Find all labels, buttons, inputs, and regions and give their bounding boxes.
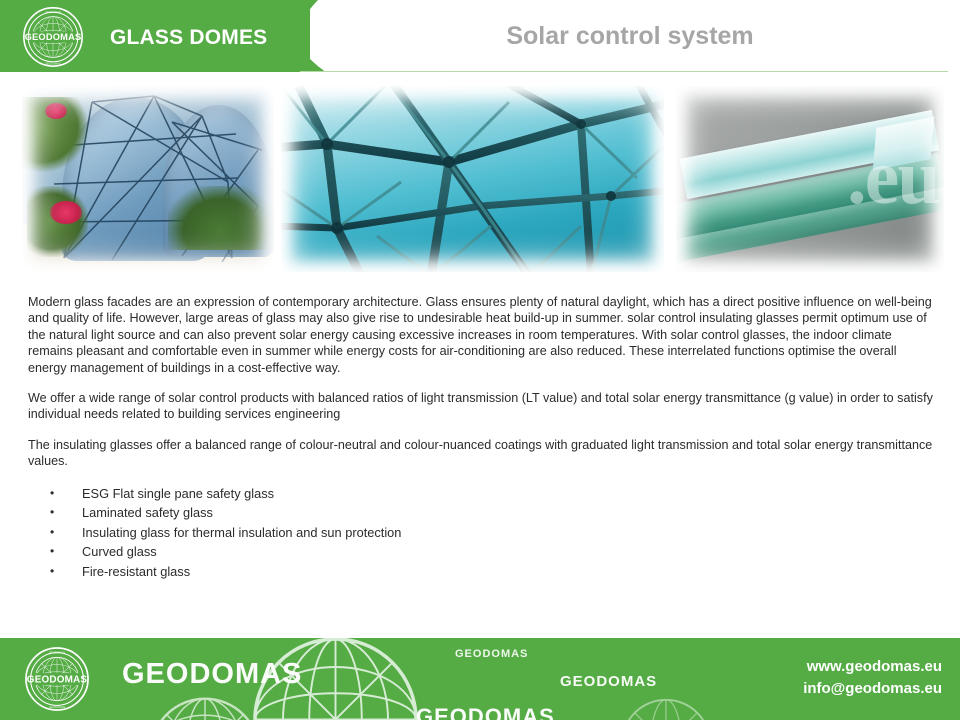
svg-text:GEODOMAS: GEODOMAS <box>25 32 82 42</box>
footer-wordmark: GEODOMAS <box>122 658 302 691</box>
dome-wireframe-icon <box>618 696 714 720</box>
photo-glass-dome-interior-upward <box>281 86 664 272</box>
page-title: Solar control system <box>330 22 930 51</box>
slide-footer: GEODOMAS GEODOMAS GEODOMAS GEODOMAS GEOD… <box>0 638 960 720</box>
paragraph-coatings: The insulating glasses offer a balanced … <box>28 437 934 470</box>
list-item: Laminated safety glass <box>28 503 934 523</box>
geodomas-logo-icon: GEODOMAS GEODOMAS GEODOMAS <box>16 646 98 712</box>
footer-wordmark: GEODOMAS <box>560 673 657 690</box>
list-item: Curved glass <box>28 542 934 562</box>
product-list: ESG Flat single pane safety glass Lamina… <box>28 484 934 582</box>
geodomas-logo-icon: GEODOMAS GEODOMAS GEODOMAS <box>14 6 92 68</box>
svg-text:GEODOMAS: GEODOMAS <box>45 61 61 65</box>
svg-text:GEODOMAS: GEODOMAS <box>27 674 88 685</box>
svg-text:GEODOMAS: GEODOMAS <box>45 10 61 14</box>
list-item: Insulating glass for thermal insulation … <box>28 523 934 543</box>
dome-structural-frame <box>281 86 664 272</box>
image-strip: .eu <box>0 86 960 272</box>
header-brand-label: GLASS DOMES <box>110 26 267 50</box>
photo-glass-dome-building-exterior <box>22 86 274 272</box>
dome-wireframe-icon <box>146 694 264 720</box>
footer-website[interactable]: www.geodomas.eu <box>803 656 942 678</box>
footer-wordmark: GEODOMAS <box>416 704 555 720</box>
footer-wordmark: GEODOMAS <box>455 648 528 660</box>
slide-header: GEODOMAS GEODOMAS GEODOMAS GLASS DOMES S… <box>0 0 960 78</box>
footer-email[interactable]: info@geodomas.eu <box>803 678 942 700</box>
slide-canvas: GEODOMAS GEODOMAS GEODOMAS GLASS DOMES S… <box>0 0 960 720</box>
svg-text:GEODOMAS: GEODOMAS <box>49 705 65 709</box>
photo-watermark: .eu <box>847 138 939 216</box>
list-item: ESG Flat single pane safety glass <box>28 484 934 504</box>
list-item: Fire-resistant glass <box>28 562 934 582</box>
photo-glass-pane-edge-macro: .eu <box>676 86 944 272</box>
svg-text:GEODOMAS: GEODOMAS <box>49 650 65 654</box>
paragraph-intro: Modern glass facades are an expression o… <box>28 294 934 376</box>
paragraph-offering: We offer a wide range of solar control p… <box>28 390 934 423</box>
body-content: Modern glass facades are an expression o… <box>28 294 934 582</box>
header-divider-rule <box>300 71 948 72</box>
footer-contact: www.geodomas.eu info@geodomas.eu <box>803 656 942 700</box>
